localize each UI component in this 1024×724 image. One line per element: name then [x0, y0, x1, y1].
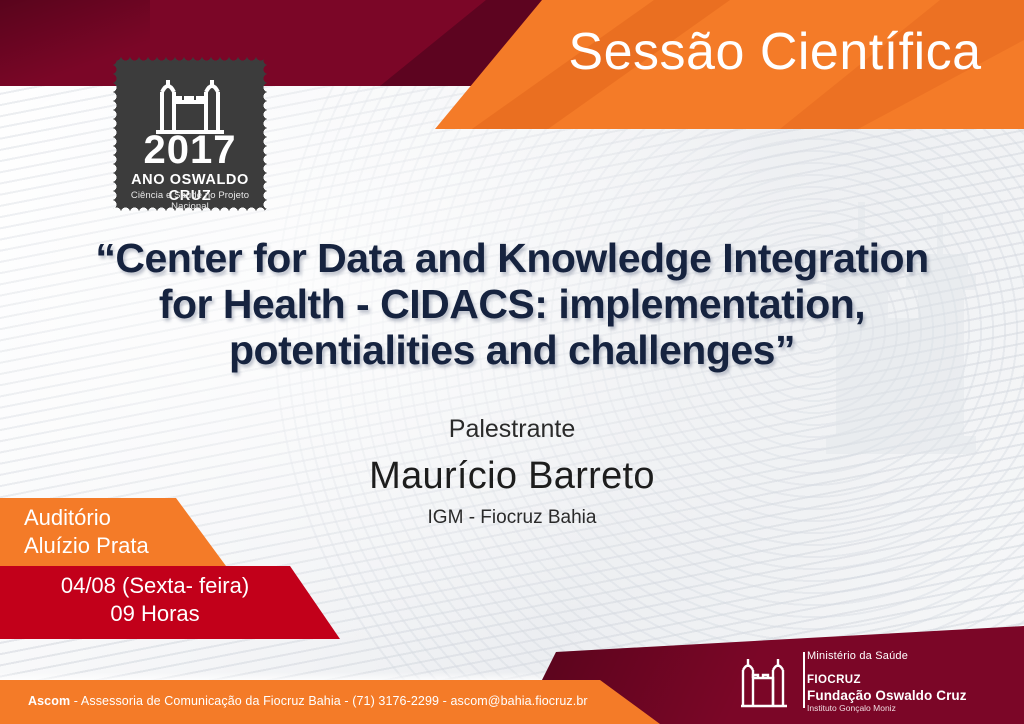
venue-line-1: Auditório [24, 504, 224, 532]
event-poster: Sessão Científica 2017 ANO OSWALDO CRUZ [0, 0, 1024, 724]
stamp-year: 2017 [112, 130, 268, 170]
oswaldo-cruz-2017-stamp: 2017 ANO OSWALDO CRUZ Ciência e Saúde no… [112, 56, 268, 212]
title-line-3: potentialities and challenges” [40, 328, 984, 374]
speaker-role-label: Palestrante [0, 415, 1024, 444]
footer-contact-text: - Assessoria de Comunicação da Fiocruz B… [70, 694, 587, 708]
footer-ascom-label: Ascom [28, 694, 70, 708]
fiocruz-logo: Ministério da Saúde FIOCRUZ Fundação Osw… [735, 648, 985, 712]
title-line-1: “Center for Data and Knowledge Integrati… [40, 236, 984, 282]
venue-text: Auditório Aluízio Prata [24, 504, 224, 559]
venue-line-2: Aluízio Prata [24, 532, 224, 560]
header-title: Sessão Científica [540, 22, 1010, 82]
castle-icon [735, 650, 793, 708]
stamp-line-2: Ciência e Saúde no Projeto Nacional [112, 190, 268, 212]
event-time: 09 Horas [30, 600, 280, 628]
fiocruz-brand: FIOCRUZ [807, 674, 861, 686]
logo-divider [803, 652, 805, 708]
event-date: 04/08 (Sexta- feira) [30, 572, 280, 600]
date-text: 04/08 (Sexta- feira) 09 Horas [30, 572, 280, 628]
footer-credit-text: Ascom - Assessoria de Comunicação da Fio… [28, 694, 588, 708]
title-line-2: for Health - CIDACS: implementation, [40, 282, 984, 328]
fiocruz-institute: Instituto Gonçalo Moniz [807, 703, 896, 713]
speaker-name: Maurício Barreto [0, 455, 1024, 498]
page-title: “Center for Data and Knowledge Integrati… [40, 236, 984, 374]
ministry-label: Ministério da Saúde [807, 650, 908, 662]
fiocruz-foundation: Fundação Oswaldo Cruz [807, 688, 967, 703]
castle-icon [140, 70, 240, 134]
